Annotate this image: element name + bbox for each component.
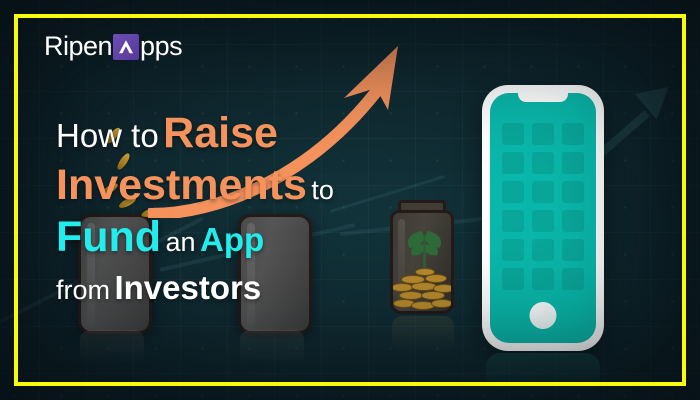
app-icon	[532, 123, 554, 145]
headline-line-4: from Investors	[56, 271, 476, 304]
app-icon	[502, 181, 524, 203]
app-icon	[502, 210, 524, 232]
headline-app: App	[200, 221, 264, 258]
app-icon	[502, 268, 524, 290]
brand-logo: Ripen pps	[44, 31, 182, 62]
smartphone-reflection	[486, 353, 600, 393]
smartphone-icon	[482, 85, 604, 351]
app-icon	[532, 268, 554, 290]
headline-fund: Fund	[56, 213, 161, 261]
app-icon	[532, 210, 554, 232]
ghost-phone-reflection	[240, 330, 304, 364]
smartphone-screen	[490, 93, 596, 343]
app-icon	[562, 152, 584, 174]
smartphone-app-grid	[502, 123, 584, 290]
headline-an: an	[166, 227, 196, 257]
headline-block: How to Raise Investments to Fund an App …	[56, 112, 476, 304]
headline-howto: How to	[56, 117, 159, 154]
app-icon	[562, 239, 584, 261]
headline-line-3: Fund an App	[56, 216, 476, 259]
brand-name-part1: Ripen	[44, 31, 112, 62]
app-icon	[562, 210, 584, 232]
app-icon	[502, 123, 524, 145]
app-icon	[502, 152, 524, 174]
app-icon	[532, 152, 554, 174]
brand-logo-tile	[113, 34, 139, 60]
headline-from: from	[56, 275, 110, 305]
headline-line-1: How to Raise	[56, 112, 476, 155]
headline-investments: Investments	[56, 161, 307, 209]
app-icon	[562, 123, 584, 145]
logo-a-icon	[116, 37, 136, 57]
headline-investors: Investors	[114, 269, 261, 306]
app-icon	[532, 239, 554, 261]
app-icon	[562, 268, 584, 290]
headline-to: to	[311, 175, 334, 205]
brand-name-part2: pps	[140, 31, 182, 62]
money-jar-reflection	[392, 316, 454, 352]
headline-raise: Raise	[163, 109, 278, 157]
app-icon	[562, 181, 584, 203]
ghost-phone-reflection	[80, 330, 144, 364]
smartphone-notch	[518, 93, 568, 102]
app-icon	[532, 181, 554, 203]
app-icon	[502, 239, 524, 261]
poster-canvas: Ripen pps How to Raise Investments to Fu…	[0, 0, 700, 400]
headline-line-2: Investments to	[56, 164, 476, 207]
smartphone-home-button	[530, 302, 557, 329]
